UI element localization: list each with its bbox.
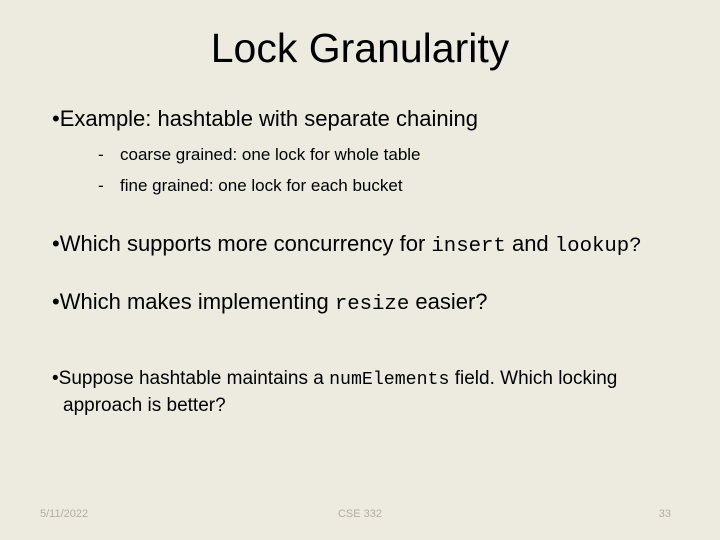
sub-bullet-coarse-grained: -coarse grained: one lock for whole tabl… <box>52 139 672 170</box>
spacer <box>52 261 672 287</box>
footer-course-name: CSE 332 <box>0 504 720 524</box>
footer-page-number: 33 <box>659 504 671 524</box>
bullet-text-example: Example: hashtable with separate chainin… <box>60 106 478 131</box>
bullet-text-resize-part1: Which makes implementing <box>60 289 335 314</box>
sub-bullet-text-coarse-grained: coarse grained: one lock for whole table <box>120 145 421 164</box>
bullet-text-resize-part2: easier? <box>409 289 487 314</box>
bullet-dot-icon: • <box>52 106 60 131</box>
spacer <box>52 201 672 229</box>
bullet-dot-icon: • <box>52 231 60 256</box>
bullet-dot-icon: • <box>52 289 60 314</box>
bullet-item-numelements: •Suppose hashtable maintains a numElemen… <box>52 366 672 418</box>
code-lookup: lookup <box>555 235 629 258</box>
slide-canvas: Lock Granularity •Example: hashtable wit… <box>0 0 720 540</box>
bullet-item-resize: •Which makes implementing resize easier? <box>52 287 672 319</box>
slide-footer: 5/11/2022 CSE 332 33 <box>0 504 720 524</box>
slide-body: •Example: hashtable with separate chaini… <box>52 104 672 418</box>
bullet-dot-icon: • <box>52 368 59 389</box>
dash-marker-icon: - <box>98 170 120 201</box>
bullet-text-concurrency-part3: ? <box>629 235 641 258</box>
code-insert: insert <box>431 235 505 258</box>
bullet-text-concurrency-part2: and <box>506 231 555 256</box>
sub-bullet-text-fine-grained: fine grained: one lock for each bucket <box>120 176 403 195</box>
spacer <box>52 319 672 366</box>
code-numelements: numElements <box>329 370 449 390</box>
bullet-text-concurrency-part1: Which supports more concurrency for <box>60 231 432 256</box>
bullet-text-numelements-part1: Suppose hashtable maintains a <box>59 368 329 389</box>
sub-bullet-fine-grained: -fine grained: one lock for each bucket <box>52 170 672 201</box>
dash-marker-icon: - <box>98 139 120 170</box>
bullet-item-concurrency: •Which supports more concurrency for ins… <box>52 229 672 261</box>
code-resize: resize <box>335 293 409 316</box>
page-title: Lock Granularity <box>0 24 720 72</box>
bullet-item-example: •Example: hashtable with separate chaini… <box>52 104 672 133</box>
